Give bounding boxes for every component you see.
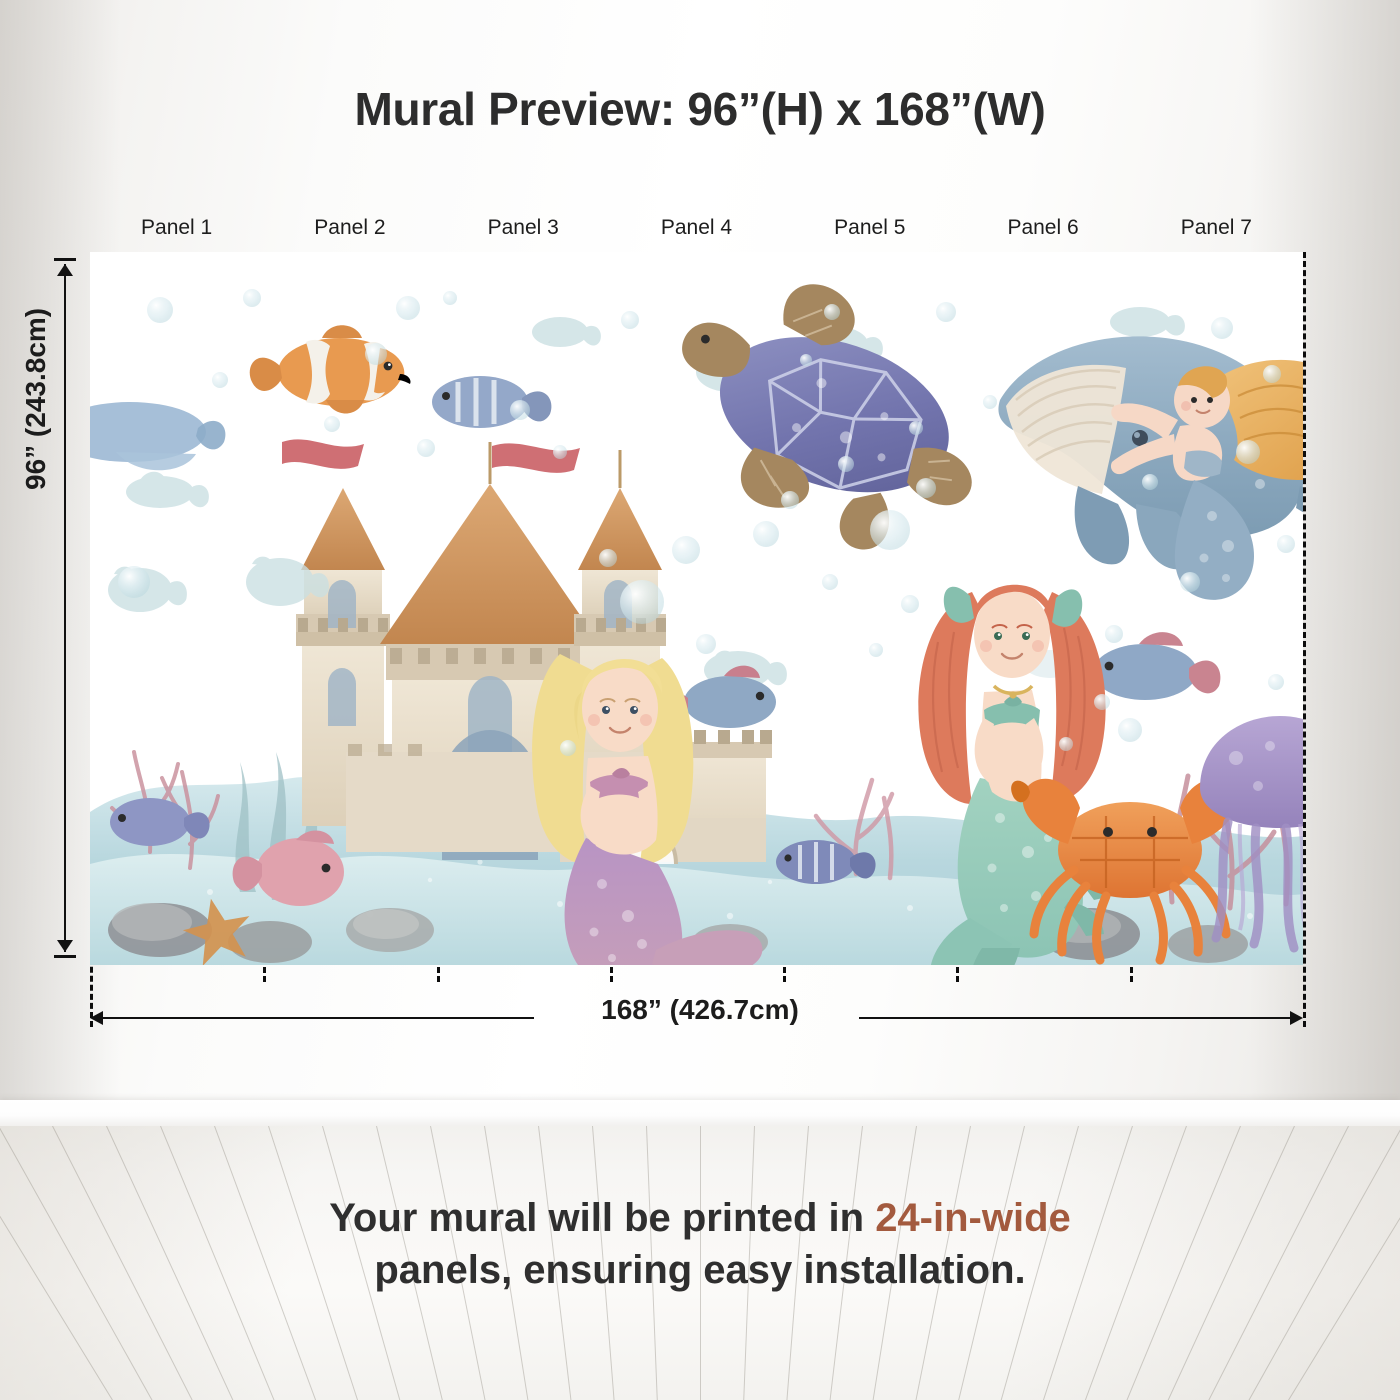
mural-edge-line [1303,252,1306,1027]
width-label: 168” (426.7cm) [0,994,1400,1026]
mural-preview-image [90,252,1303,965]
panel-label-7: Panel 7 [1129,216,1303,240]
caption-line2: panels, ensuring easy installation. [374,1248,1025,1292]
caption-line1-pre: Your mural will be printed in [329,1196,875,1240]
panel-label-1: Panel 1 [90,216,264,240]
panel-label-5: Panel 5 [783,216,957,240]
panel-label-4: Panel 4 [610,216,784,240]
panel-label-3: Panel 3 [436,216,610,240]
panel-label-2: Panel 2 [263,216,437,240]
height-label: 96” (243.8cm) [20,308,52,490]
height-dimension-arrow [54,258,76,958]
caption-accent-panel-width: 24-in-wide [875,1196,1071,1240]
page-title: Mural Preview: 96”(H) x 168”(W) [0,82,1400,136]
panel-label-6: Panel 6 [956,216,1130,240]
baseboard [0,1100,1400,1128]
print-info-caption: Your mural will be printed in 24-in-wide… [0,1192,1400,1296]
